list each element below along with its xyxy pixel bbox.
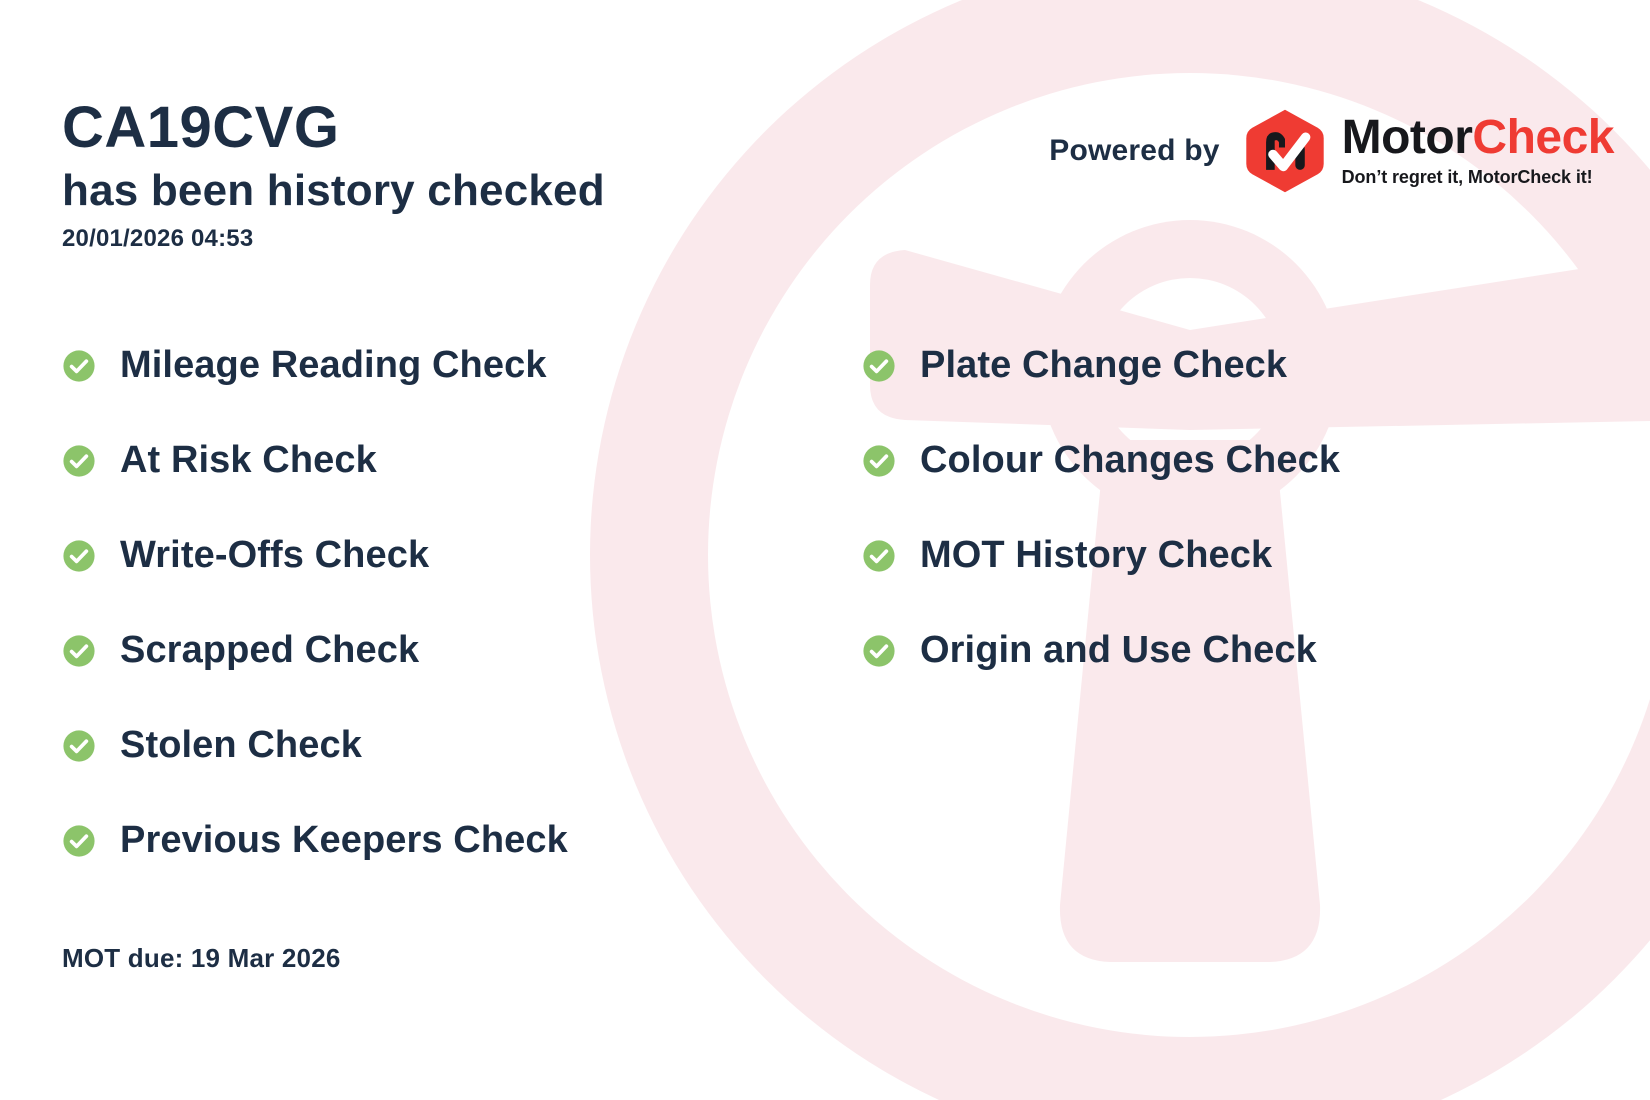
powered-by-label: Powered by xyxy=(1049,134,1219,168)
check-item: Write-Offs Check xyxy=(62,508,862,603)
check-item-label: MOT History Check xyxy=(920,534,1272,577)
checks-list: Mileage Reading Check At Risk Check Writ… xyxy=(62,318,1582,888)
check-item: Previous Keepers Check xyxy=(62,793,862,888)
check-circle-icon xyxy=(62,444,96,478)
check-circle-icon xyxy=(62,539,96,573)
check-circle-icon xyxy=(862,634,896,668)
card-header: CA19CVG has been history checked 20/01/2… xyxy=(62,96,605,253)
check-item: Mileage Reading Check xyxy=(62,318,862,413)
check-item: MOT History Check xyxy=(862,508,1562,603)
brand-name-motor: Motor xyxy=(1342,111,1473,164)
vehicle-history-check-card: CA19CVG has been history checked 20/01/2… xyxy=(0,0,1650,1100)
mot-due-date: MOT due: 19 Mar 2026 xyxy=(62,943,341,974)
check-timestamp: 20/01/2026 04:53 xyxy=(62,225,605,253)
page-title: has been history checked xyxy=(62,164,605,218)
check-item-label: Origin and Use Check xyxy=(920,629,1317,672)
brand-tagline: Don’t regret it, MotorCheck it! xyxy=(1342,167,1614,188)
check-circle-icon xyxy=(62,349,96,383)
check-item: Scrapped Check xyxy=(62,603,862,698)
check-item-label: Mileage Reading Check xyxy=(120,344,547,387)
check-item: Stolen Check xyxy=(62,698,862,793)
checks-column-right: Plate Change Check Colour Changes Check … xyxy=(862,318,1562,888)
check-circle-icon xyxy=(862,349,896,383)
check-circle-icon xyxy=(862,444,896,478)
check-item-label: Write-Offs Check xyxy=(120,534,429,577)
powered-by-block: Powered by MotorCheck Don’t regret it, M… xyxy=(1049,108,1614,194)
checks-column-left: Mileage Reading Check At Risk Check Writ… xyxy=(62,318,862,888)
brand-name: MotorCheck xyxy=(1342,114,1614,162)
check-item-label: Plate Change Check xyxy=(920,344,1287,387)
motorcheck-hexagon-icon xyxy=(1242,108,1328,194)
check-item-label: Stolen Check xyxy=(120,724,362,767)
check-item-label: Colour Changes Check xyxy=(920,439,1340,482)
check-circle-icon xyxy=(862,539,896,573)
vehicle-registration-plate: CA19CVG xyxy=(62,96,605,160)
check-circle-icon xyxy=(62,634,96,668)
check-item: Plate Change Check xyxy=(862,318,1562,413)
check-item-label: At Risk Check xyxy=(120,439,377,482)
check-item: Origin and Use Check xyxy=(862,603,1562,698)
check-item-label: Previous Keepers Check xyxy=(120,819,568,862)
check-item: At Risk Check xyxy=(62,413,862,508)
check-circle-icon xyxy=(62,824,96,858)
motorcheck-wordmark: MotorCheck Don’t regret it, MotorCheck i… xyxy=(1342,114,1614,188)
check-item: Colour Changes Check xyxy=(862,413,1562,508)
motorcheck-logo[interactable]: MotorCheck Don’t regret it, MotorCheck i… xyxy=(1242,108,1614,194)
check-circle-icon xyxy=(62,729,96,763)
brand-name-check: Check xyxy=(1472,111,1614,164)
check-item-label: Scrapped Check xyxy=(120,629,419,672)
